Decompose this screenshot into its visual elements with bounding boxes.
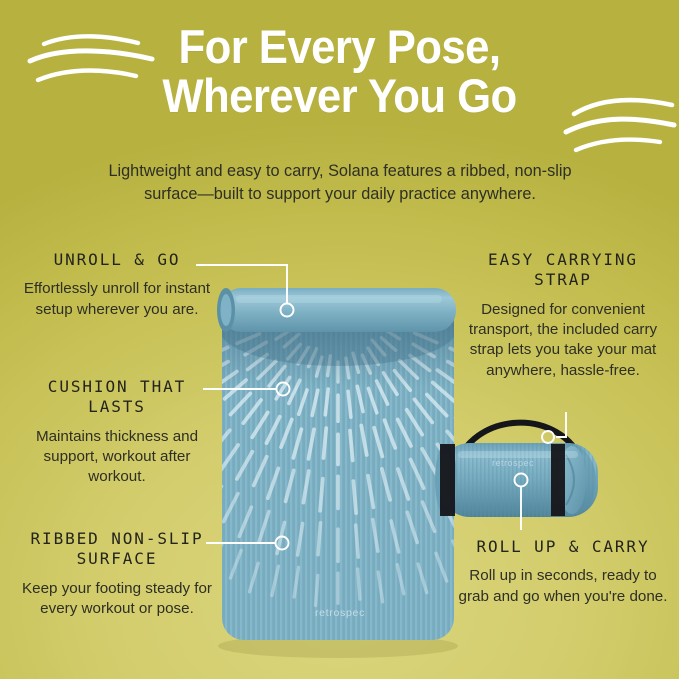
callout-body-rollup: Roll up in seconds, ready to grab and go… xyxy=(456,566,670,606)
mat-roll-top xyxy=(217,288,456,332)
callout-body-strap: Designed for convenient transport, the i… xyxy=(456,300,670,381)
brand-text-flat-mat: retrospec xyxy=(300,607,380,619)
callout-body-ribbed: Keep your footing steady for every worko… xyxy=(14,579,220,619)
callout-body-unroll: Effortlessly unroll for instant setup wh… xyxy=(14,279,220,319)
headline-line-1: For Every Pose, xyxy=(24,24,655,70)
callout-title-strap: EASY CARRYING STRAP xyxy=(456,250,670,291)
product-infographic: For Every Pose, Wherever You Go Lightwei… xyxy=(0,0,679,679)
callout-title-cushion: CUSHION THAT LASTS xyxy=(14,377,220,418)
callout-easy-carrying-strap: EASY CARRYING STRAP Designed for conveni… xyxy=(456,250,670,381)
callout-unroll-and-go: UNROLL & GO Effortlessly unroll for inst… xyxy=(14,250,220,320)
headline-line-2: Wherever You Go xyxy=(24,73,655,119)
rolled-mat-with-strap xyxy=(435,423,598,517)
page-title: For Every Pose, Wherever You Go xyxy=(24,24,655,119)
callout-title-ribbed: RIBBED NON-SLIP SURFACE xyxy=(14,529,220,570)
callout-cushion-that-lasts: CUSHION THAT LASTS Maintains thickness a… xyxy=(14,377,220,488)
callout-title-unroll: UNROLL & GO xyxy=(14,250,220,270)
callout-title-rollup: ROLL UP & CARRY xyxy=(456,537,670,557)
subtitle: Lightweight and easy to carry, Solana fe… xyxy=(104,160,576,206)
brand-text-rolled-mat: retrospec xyxy=(477,458,549,468)
callout-roll-up-and-carry: ROLL UP & CARRY Roll up in seconds, read… xyxy=(456,537,670,607)
callout-ribbed-non-slip-surface: RIBBED NON-SLIP SURFACE Keep your footin… xyxy=(14,529,220,619)
callout-body-cushion: Maintains thickness and support, workout… xyxy=(14,427,220,488)
